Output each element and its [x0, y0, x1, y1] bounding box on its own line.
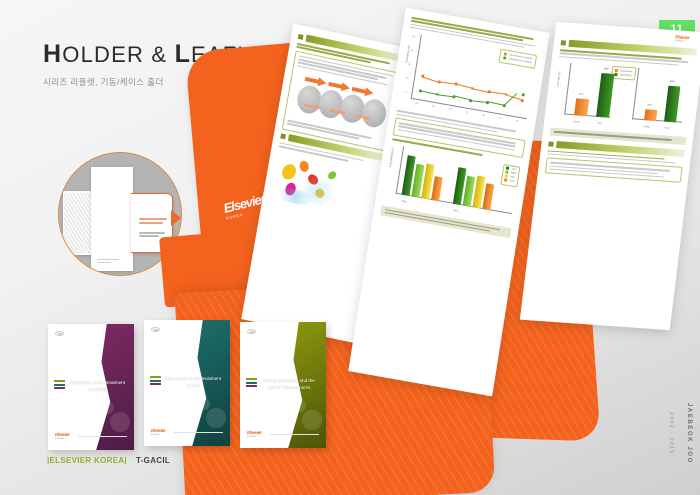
process-node [360, 97, 388, 130]
tick-olive [54, 380, 65, 382]
bar-chart-legend: TGC MEM IPM CAZ [501, 164, 521, 188]
dieline-center-panel [91, 167, 133, 271]
dieline-center-footline [97, 262, 111, 263]
legend-swatch [504, 53, 507, 56]
author-years: 2002 - 2015 [668, 412, 674, 455]
legend-swatch [505, 174, 508, 177]
x-tick: '10 [448, 109, 451, 111]
tick-olive [246, 378, 257, 380]
bar [574, 98, 589, 116]
cover-logo-subtext: KOREA [247, 436, 261, 438]
cover-logo: Elsevier KOREA [151, 429, 165, 436]
cover-logo: Elsevier KOREA [55, 433, 69, 440]
cover-tick-marks [150, 376, 161, 387]
legend-item: Tigecycline [614, 73, 632, 77]
tick-purple [246, 385, 257, 387]
cover-bubble [110, 412, 130, 432]
x-tick: GPC [454, 210, 459, 213]
splash-blob [299, 160, 309, 172]
brochure-cover-olive: Rising resistance and the role of Carbap… [240, 322, 326, 448]
elsevier-tree-icon [55, 331, 64, 336]
brochure-cover-purple: Tigecycline in the treatment of cSSSI El… [48, 324, 134, 450]
x-tick: '08 [415, 103, 418, 105]
cover-bubble [206, 408, 226, 428]
x-tick: Comp [573, 121, 579, 123]
title-initial-h: H [43, 40, 62, 68]
cover-rule [78, 436, 127, 437]
x-tick: '14 [515, 121, 518, 123]
data-point [435, 93, 438, 96]
client-project-label: |ELSEVIER KOREA| T-GACIL [47, 456, 170, 465]
bar [644, 109, 657, 121]
y-tick: 60 [412, 36, 415, 39]
dieline-center-footline [97, 259, 119, 260]
data-point [454, 83, 457, 86]
legend-swatch [506, 167, 509, 170]
x-tick: '12 [482, 115, 485, 117]
leaflet-panel-right: Elsevier KOREA Cure rate (%) [520, 22, 700, 330]
leaflet-right-content: Elsevier KOREA Cure rate (%) [520, 22, 700, 330]
data-point [421, 75, 424, 78]
client-name: |ELSEVIER KOREA| [47, 456, 127, 465]
x-tick: GNB [401, 200, 406, 203]
cover-bubble [102, 402, 114, 414]
cover-rule [174, 432, 223, 433]
line-chart-legend: Ciprofloxacin-resistant Carbapenem-resis… [499, 49, 537, 69]
cover-rule [270, 434, 319, 435]
bar-value-label: 86% [604, 68, 609, 70]
cover-tick-marks [54, 380, 65, 391]
legend-swatch [506, 171, 509, 174]
data-point [486, 101, 489, 104]
data-point [452, 95, 455, 98]
x-tick: '09 [431, 106, 434, 108]
cure-chart-y-label: Cure rate (%) [556, 71, 561, 87]
legend-label: CAZ [509, 179, 514, 183]
y-tick: 45 [410, 49, 413, 52]
tick-teal [54, 384, 65, 386]
legend-item: CAZ [504, 178, 515, 183]
data-point [437, 81, 440, 84]
cover-logo-subtext: KOREA [151, 434, 165, 436]
bar [664, 86, 680, 123]
author-credit: JAEBEOK JOO 2002 - 2015 [668, 378, 692, 488]
elsevier-tree-icon [151, 327, 160, 332]
tick-teal [246, 382, 257, 384]
x-tick: '11 [465, 112, 468, 114]
tick-purple [54, 387, 65, 389]
cover-bubble [294, 400, 306, 412]
legend-swatch [615, 69, 618, 72]
cover-title: Tigecycline in the treatment of cSSSI [68, 380, 126, 394]
bar-value-label: 31% [579, 94, 584, 96]
bar [482, 183, 494, 210]
project-name: T-GACIL [136, 456, 170, 465]
cure-chart-y-axis [564, 63, 571, 115]
x-tick: TGC [597, 123, 602, 125]
x-tick: '13 [498, 118, 501, 120]
tick-teal [150, 380, 161, 382]
y-tick: 15 [406, 77, 409, 80]
brochure-covers-group: Tigecycline in the treatment of cSSSI El… [44, 318, 324, 468]
cover-logo: Elsevier KOREA [247, 431, 261, 438]
slide-canvas: 11 HOLDER & LEAFLET 시리즈 리플렛, 기동/케이스 홀더 [0, 0, 700, 495]
y-tick: 0 [405, 91, 407, 94]
bullet-square-icon [561, 40, 567, 45]
bullet-square-icon [548, 141, 554, 146]
cover-tick-marks [246, 378, 257, 389]
bar-value-label: 19% [647, 104, 652, 106]
line-chart-y-label: Resistance (%) [405, 45, 411, 63]
data-point [503, 104, 506, 107]
bar-value-label: 68% [670, 81, 675, 83]
x-tick: TGC [664, 128, 669, 130]
legend-swatch [614, 73, 617, 76]
splash-blob [326, 169, 337, 180]
data-point [419, 90, 422, 93]
splash-blob [279, 161, 298, 182]
cover-bubble [302, 410, 322, 430]
line-segment [422, 76, 439, 82]
tick-purple [150, 383, 161, 385]
bullet-square-icon [298, 34, 304, 40]
tick-olive [150, 376, 161, 378]
cover-logo-subtext: KOREA [55, 438, 69, 440]
caption-line [554, 131, 672, 141]
data-point [488, 90, 491, 93]
data-point [469, 99, 472, 102]
x-tick: Comp [643, 126, 649, 128]
data-point [521, 93, 524, 96]
legend-label: Tigecycline [619, 73, 631, 77]
legend-swatch [503, 57, 506, 60]
bacteria-splash-graphic [269, 151, 384, 225]
bullet-square-icon [280, 133, 286, 139]
cover-title: Tigecycline in the treatment of cIAI [164, 376, 222, 390]
author-name: JAEBEOK JOO [686, 403, 692, 464]
cover-title: Rising resistance and the role of Carbap… [260, 378, 318, 392]
paired-bar-charts: Cure rate (%) Comparator Tigecycline 31%… [551, 62, 694, 133]
legend-swatch [504, 178, 507, 181]
data-point [521, 99, 524, 102]
paired-chart-legend: Comparator Tigecycline [611, 66, 636, 81]
data-point [471, 87, 474, 90]
cover-bubble [198, 398, 210, 410]
brochure-cover-teal: Tigecycline in the treatment of cIAI Els… [144, 320, 230, 446]
bar-chart-y-label: Susceptibility (%) [389, 147, 395, 167]
bar [596, 73, 614, 118]
y-tick: 30 [408, 63, 411, 66]
bar [431, 176, 443, 201]
elsevier-tree-icon [247, 329, 256, 334]
data-point [504, 93, 507, 96]
